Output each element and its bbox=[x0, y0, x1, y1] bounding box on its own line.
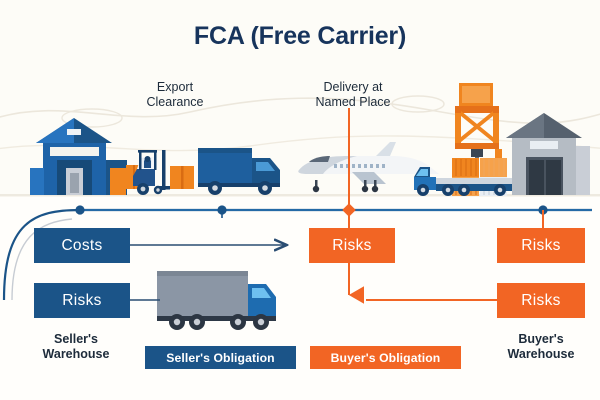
box-costs-seller[interactable]: Costs bbox=[34, 228, 130, 263]
box-risks-seller[interactable]: Risks bbox=[34, 283, 130, 318]
seller-node-marker bbox=[75, 205, 84, 214]
legend-buyers-obligation[interactable]: Buyer's Obligation bbox=[310, 346, 461, 369]
label-sellers-warehouse: Seller's Warehouse bbox=[16, 332, 136, 362]
box-risks-delivery[interactable]: Risks bbox=[309, 228, 395, 263]
box-risks-buyer-bottom[interactable]: Risks bbox=[497, 283, 585, 318]
label-buyers-warehouse: Buyer's Warehouse bbox=[482, 332, 600, 362]
infographic-canvas: FCA (Free Carrier) Export Clearance Deli… bbox=[0, 0, 600, 400]
legend-sellers-obligation[interactable]: Seller's Obligation bbox=[145, 346, 296, 369]
box-risks-buyer-top[interactable]: Risks bbox=[497, 228, 585, 263]
